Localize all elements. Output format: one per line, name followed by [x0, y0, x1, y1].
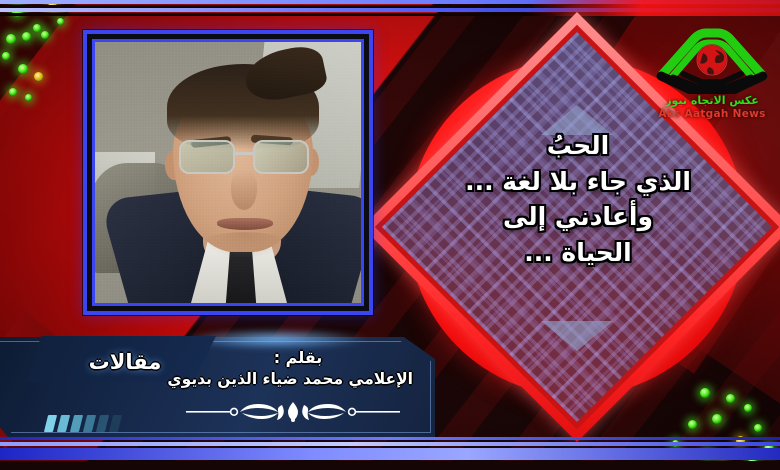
headline-line-4: الحياة ...: [432, 235, 724, 271]
bokeh-dot: [57, 18, 64, 25]
portrait-frame-inner: [92, 39, 364, 306]
bokeh-dot: [9, 88, 17, 96]
news-poster: الحبُ الذي جاء بلا لغة ... وأعادني إلى ا…: [0, 0, 780, 470]
progress-bar-segment: [83, 415, 96, 432]
bokeh-dot: [34, 72, 43, 81]
byline-label: بقلم :: [183, 348, 413, 367]
progress-bar-segment: [70, 415, 83, 432]
bokeh-dot: [22, 32, 31, 41]
triangle-down-icon: [541, 321, 613, 351]
bottom-stripe-blue-3: [0, 448, 780, 460]
bokeh-dot: [712, 414, 722, 424]
progress-bar-segment: [44, 415, 57, 432]
bokeh-dot: [2, 52, 10, 60]
headline-line-2: الذي جاء بلا لغة ...: [432, 164, 724, 200]
flourish-divider-icon: [186, 401, 400, 423]
bokeh-dot: [700, 388, 710, 398]
headline-line-1: الحبُ: [432, 128, 724, 164]
portrait-frame: [83, 30, 373, 315]
headline-line-3: وأعادني إلى: [432, 199, 724, 235]
bokeh-dot: [726, 394, 735, 403]
bottom-stripe-blue-1: [0, 437, 780, 440]
top-stripe-red: [530, 0, 780, 16]
bokeh-dot: [41, 31, 49, 39]
progress-bar-segment: [57, 415, 70, 432]
bottom-stripe-dark: [0, 461, 780, 470]
byline-block: بقلم : الإعلامي محمد ضياء الذين بديوي: [183, 348, 413, 388]
logo-english-text: Aks Aatgah News: [652, 108, 772, 120]
headline-block: الحبُ الذي جاء بلا لغة ... وأعادني إلى ا…: [432, 128, 724, 270]
progress-bar-segment: [96, 415, 109, 432]
bokeh-dot: [18, 64, 28, 74]
portrait-photo: [95, 42, 361, 303]
site-logo[interactable]: عكس الاتجاه نيوز Aks Aatgah News: [652, 22, 772, 130]
bokeh-dot: [33, 24, 41, 32]
author-name: الإعلامي محمد ضياء الذين بديوي: [183, 370, 413, 388]
bottom-stripe-blue-2: [0, 442, 780, 446]
bokeh-dot: [744, 404, 752, 412]
eye-globe-logo-icon: [653, 22, 771, 94]
portrait-grain-overlay: [95, 42, 361, 303]
progress-bar-strip: [46, 415, 120, 432]
bokeh-dot: [754, 424, 762, 432]
bokeh-dot: [25, 94, 32, 101]
logo-arabic-text: عكس الاتجاه نيوز: [652, 94, 772, 107]
bokeh-dot: [688, 420, 697, 429]
bokeh-dot: [6, 34, 16, 44]
